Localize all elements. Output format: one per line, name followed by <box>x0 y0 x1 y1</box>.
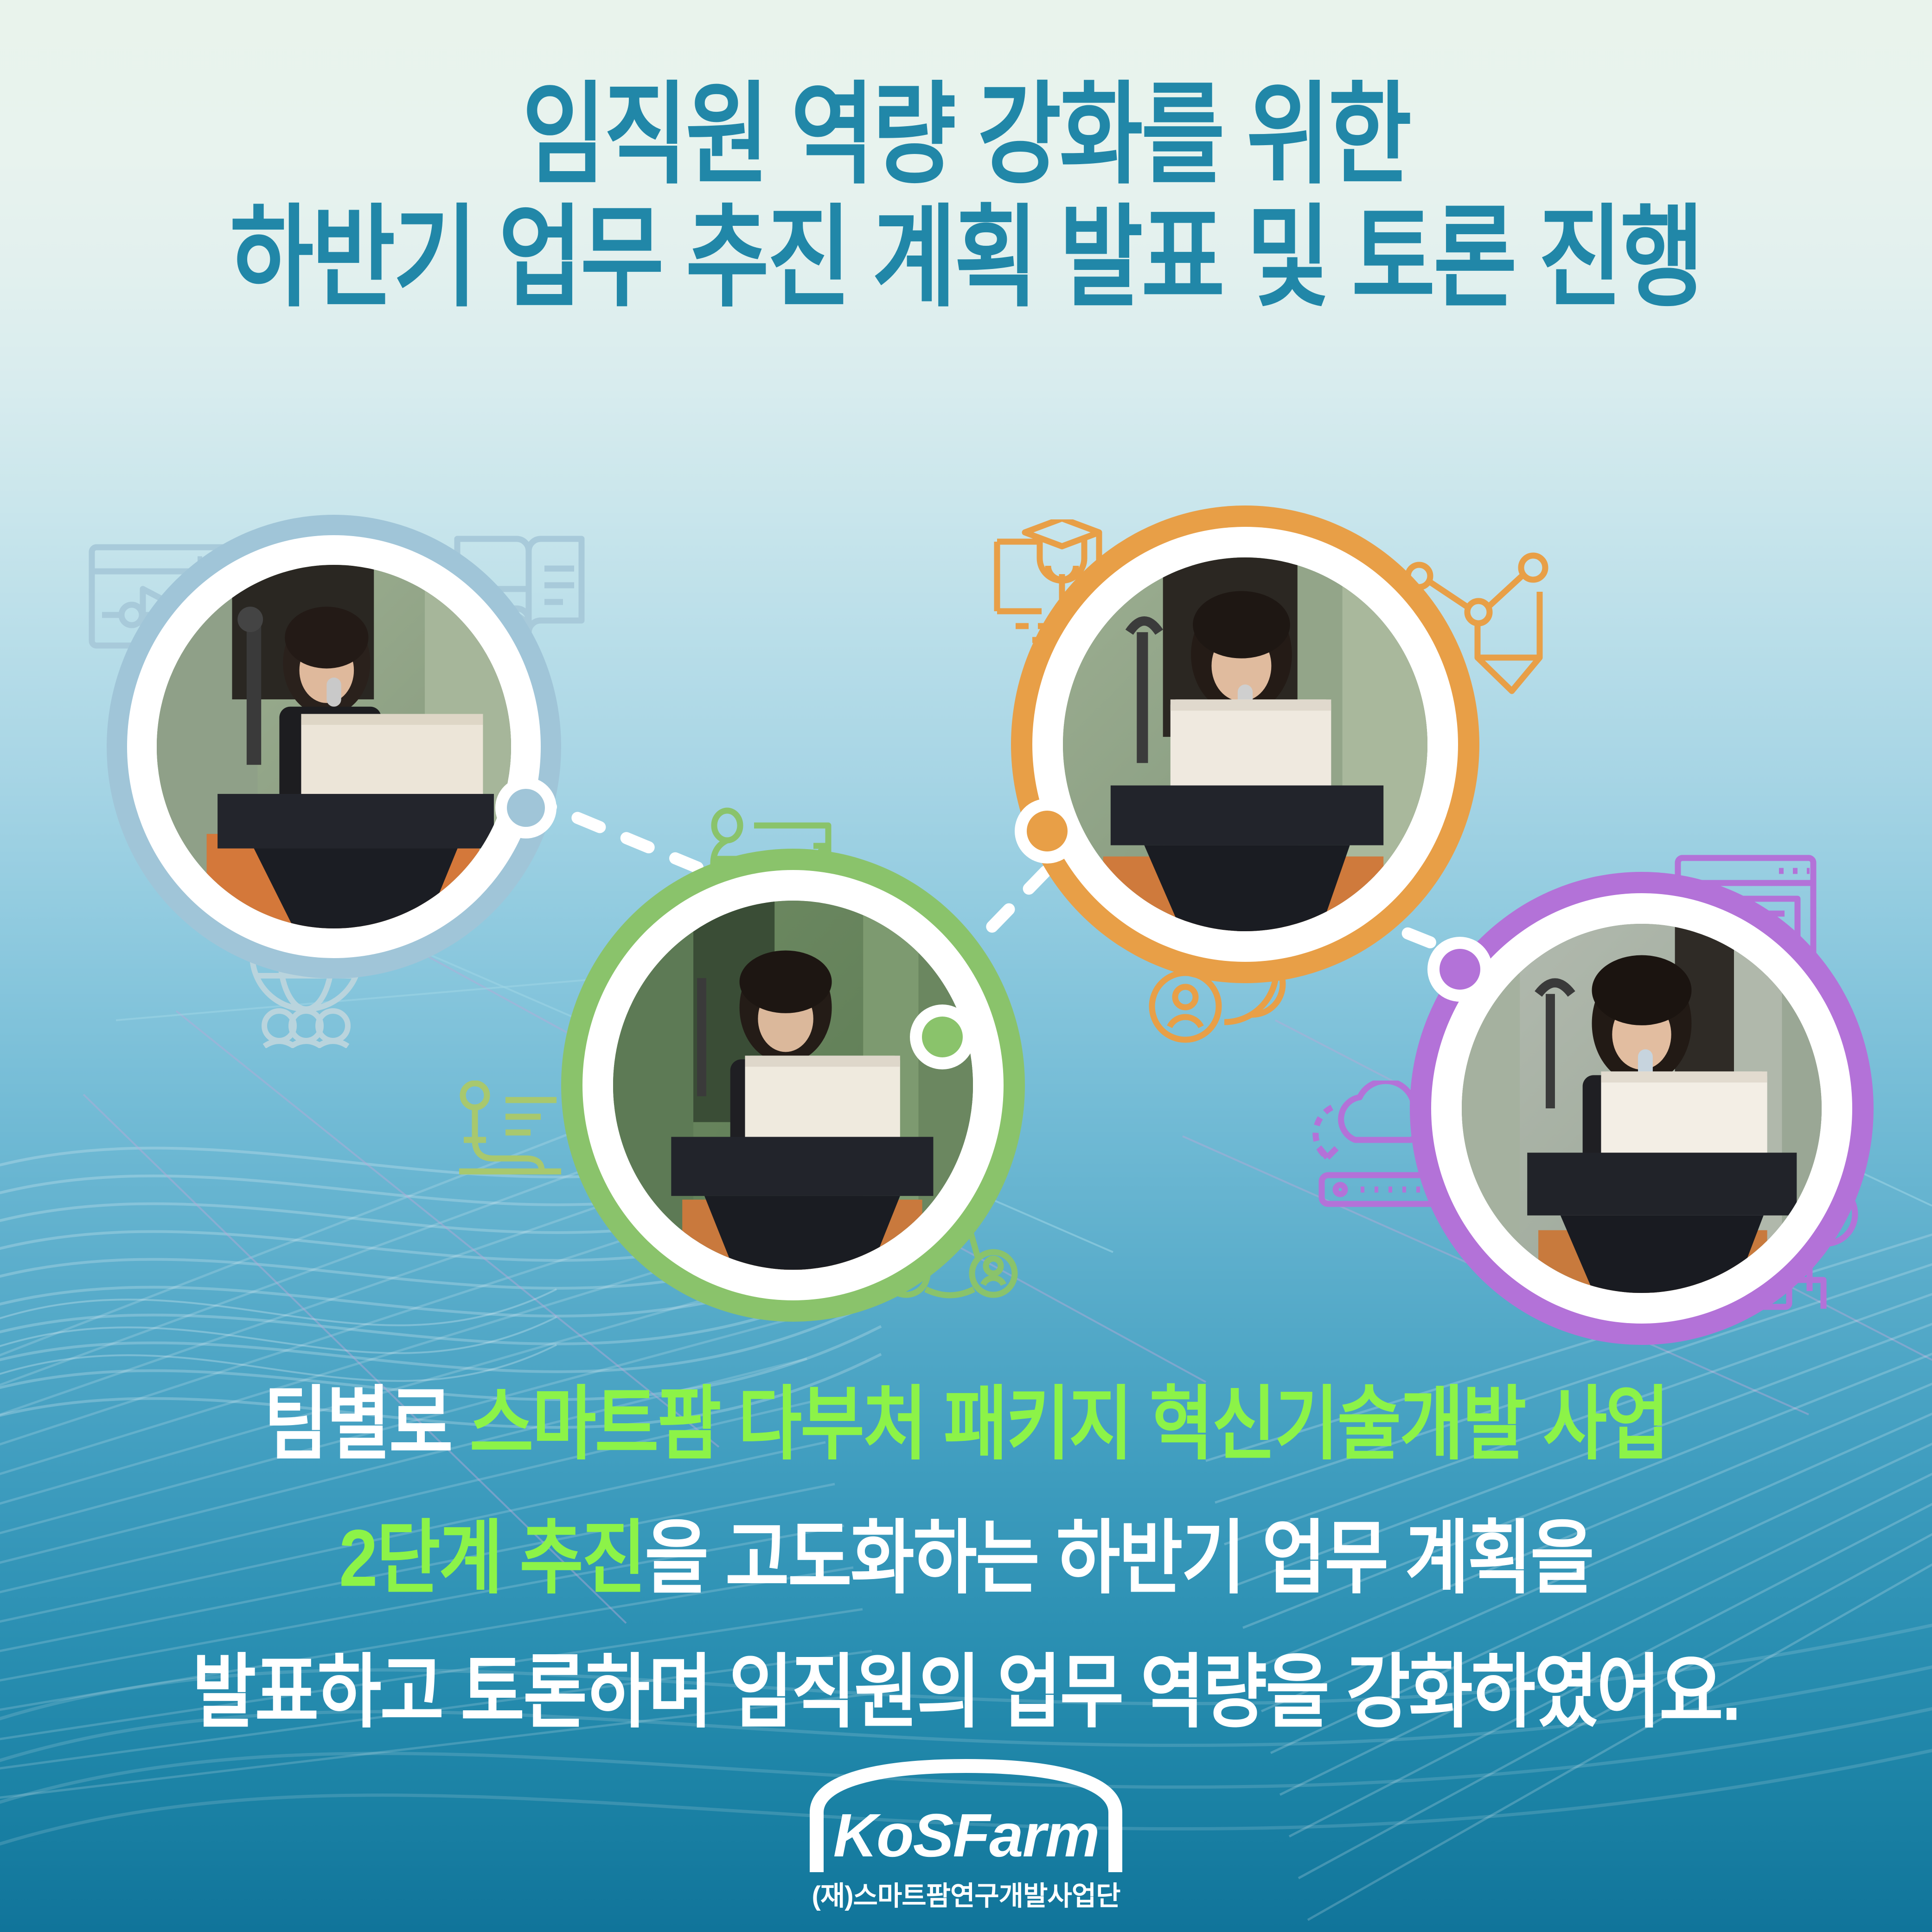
photo-image-2 <box>1063 557 1427 931</box>
connector-dot-2 <box>1015 799 1080 864</box>
body-line-2-highlight: 2단계 추진 <box>339 1513 645 1603</box>
logo-subtitle: (재)스마트팜연구개발사업단 <box>0 1874 1932 1913</box>
person-sitting-icon <box>454 1081 570 1187</box>
connector-dot-3 <box>910 1004 975 1069</box>
body-line-1-highlight: 스마트팜 다부처 패키지 혁신기술개발 사업 <box>469 1379 1668 1469</box>
photo-image-4 <box>1462 924 1822 1293</box>
logo-mark: KoSFarm <box>804 1758 1128 1870</box>
body-line-3: 발표하고 토론하며 임직원의 업무 역량을 강화하였어요. <box>0 1627 1932 1744</box>
photo-circle-3[interactable] <box>561 849 1025 1322</box>
logo-block: KoSFarm (재)스마트팜연구개발사업단 <box>0 1758 1932 1913</box>
promo-card: 임직원 역량 강화를 위한 하반기 업무 추진 계획 발표 및 토론 진행 <box>0 0 1932 1932</box>
connector-dot-4 <box>1427 937 1492 1002</box>
logo-name: KoSFarm <box>804 1800 1128 1870</box>
photo-circle-1[interactable] <box>107 515 561 979</box>
title-line-2: 하반기 업무 추진 계획 발표 및 토론 진행 <box>0 192 1932 323</box>
body-copy: 팀별로 스마트팜 다부처 패키지 혁신기술개발 사업 2단계 추진을 고도화하는… <box>0 1359 1932 1761</box>
photo-image-3 <box>613 901 973 1270</box>
body-line-2-plain: 을 고도화하는 하반기 업무 계획을 <box>645 1513 1593 1603</box>
page-title: 임직원 역량 강화를 위한 하반기 업무 추진 계획 발표 및 토론 진행 <box>0 70 1932 316</box>
body-line-1-plain: 팀별로 <box>264 1379 470 1469</box>
connector-dot-1 <box>495 777 557 838</box>
body-line-1: 팀별로 스마트팜 다부처 패키지 혁신기술개발 사업 <box>0 1359 1932 1476</box>
body-line-2: 2단계 추진을 고도화하는 하반기 업무 계획을 <box>0 1493 1932 1610</box>
photo-image-1 <box>157 565 511 928</box>
photo-circle-2[interactable] <box>1011 505 1479 983</box>
title-line-1: 임직원 역량 강화를 위한 <box>0 70 1932 200</box>
